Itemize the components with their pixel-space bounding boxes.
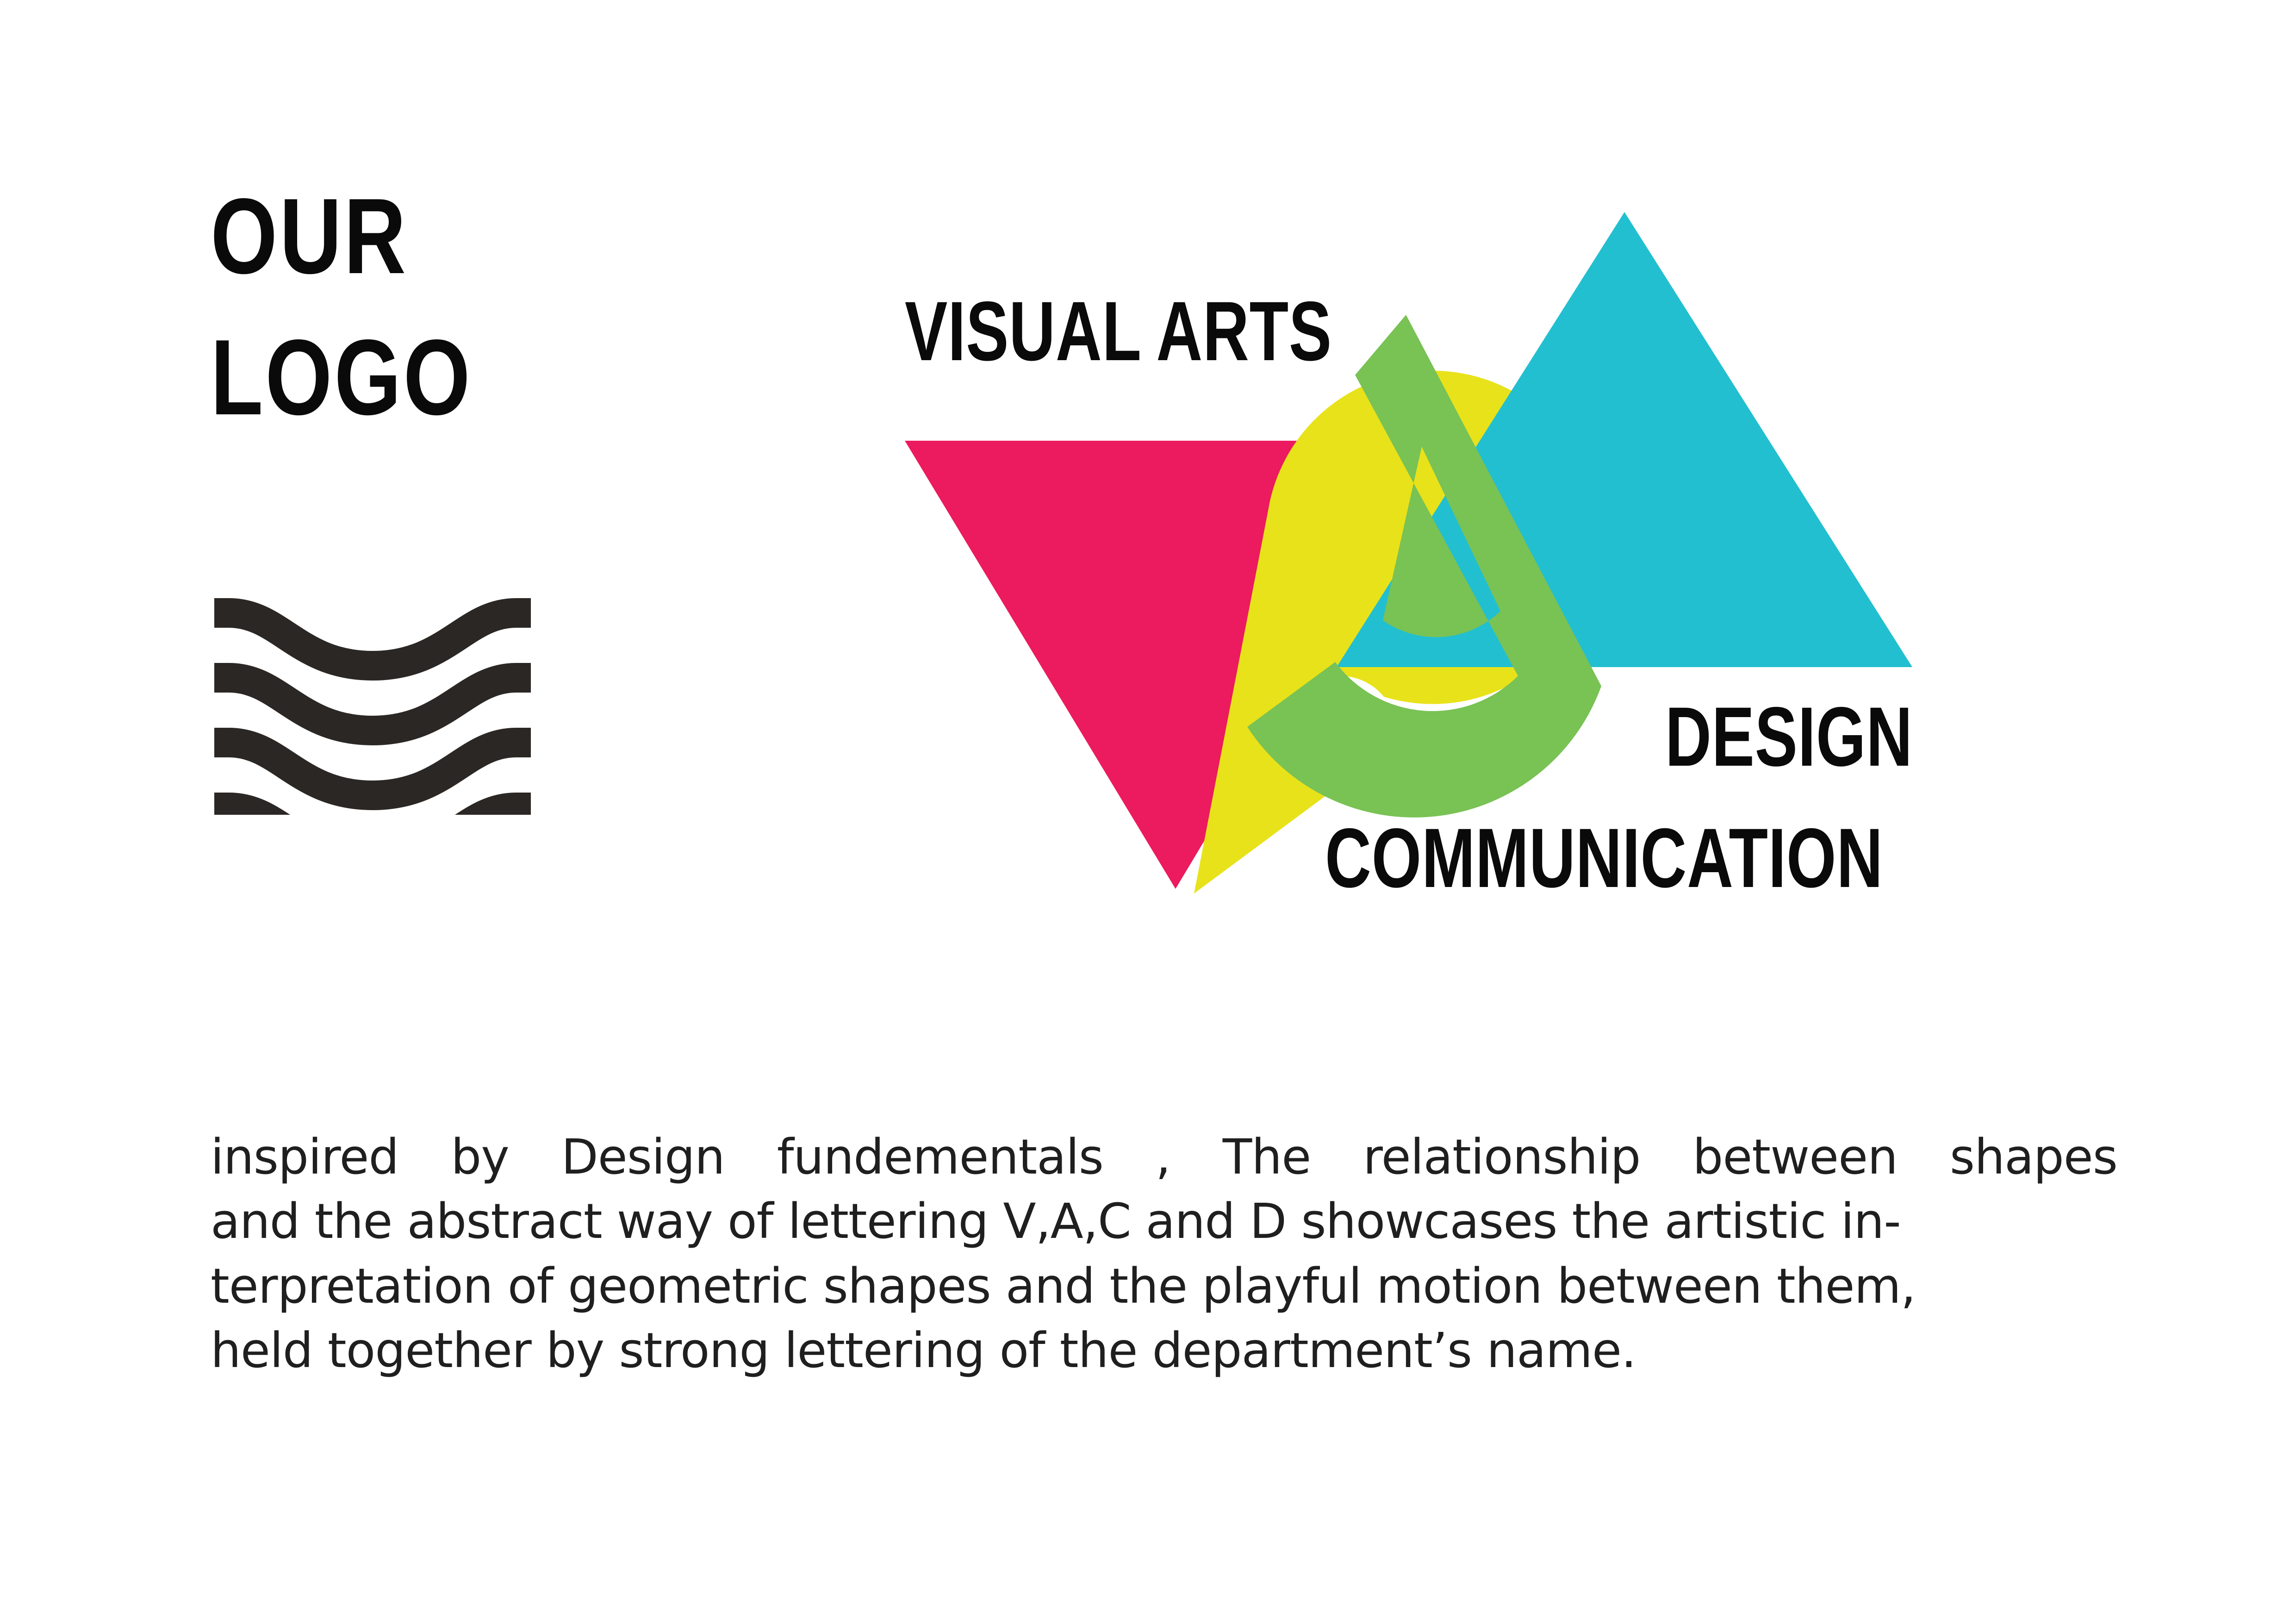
- wave-lines-mark: [211, 574, 535, 815]
- wordmark-visual-arts: VISUAL ARTS: [905, 289, 1332, 373]
- wordmark-design: DESIGN: [1665, 694, 1913, 779]
- description-line-4: held together by strong lettering of the…: [211, 1318, 2117, 1383]
- description-paragraph: inspiredbyDesignfundementals,Therelation…: [211, 1125, 2117, 1383]
- description-word: by: [451, 1125, 509, 1189]
- description-word: ,: [1156, 1125, 1170, 1189]
- page-title-line-logo: LOGO: [211, 326, 544, 430]
- description-word: Design: [561, 1125, 725, 1189]
- page-title-line-our: OUR: [211, 185, 544, 288]
- wave-lines-icon: [211, 574, 535, 815]
- page-title: OUR LOGO: [211, 185, 627, 429]
- description-line-3: terpretation of geometric shapes and the…: [211, 1254, 2117, 1318]
- description-line-2: and the abstract way of lettering V,A,C …: [211, 1189, 2117, 1254]
- description-word: inspired: [211, 1125, 398, 1189]
- description-word: The: [1223, 1125, 1311, 1189]
- description-word: shapes: [1950, 1125, 2117, 1189]
- description-line-1: inspiredbyDesignfundementals,Therelation…: [211, 1125, 2117, 1189]
- wordmark-communication: COMMUNICATION: [1325, 816, 1883, 900]
- description-word: between: [1692, 1125, 1898, 1189]
- description-word: fundementals: [777, 1125, 1103, 1189]
- description-word: relationship: [1363, 1125, 1640, 1189]
